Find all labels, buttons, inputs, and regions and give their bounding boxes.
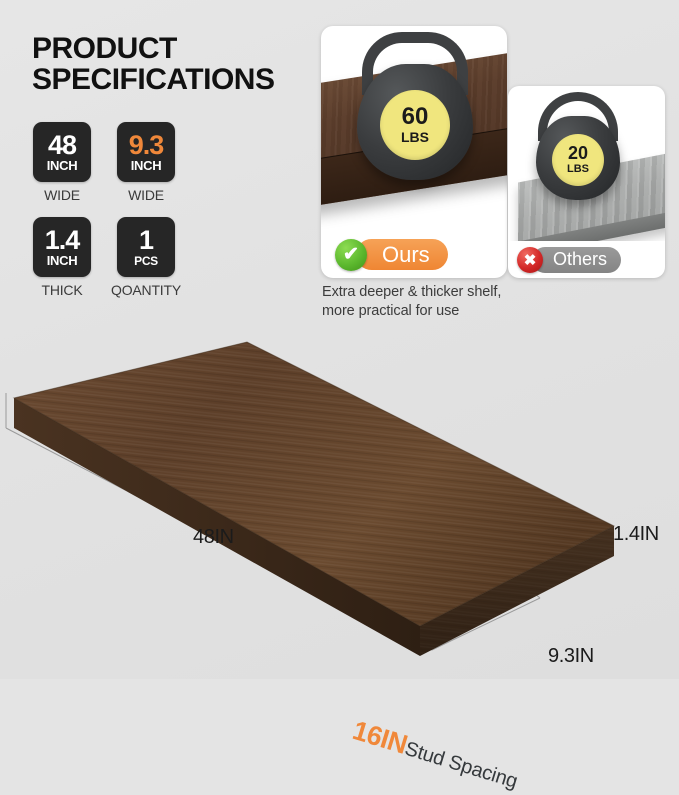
ours-pill-label: Ours — [356, 239, 448, 270]
spec-item-thickness: 1.4 INCH THICK — [31, 217, 93, 298]
page-title: PRODUCT SPECIFICATIONS — [32, 34, 274, 96]
kettlebell-20lbs: 20 LBS — [530, 92, 626, 208]
title-line-2: SPECIFICATIONS — [32, 65, 274, 96]
stud-spacing-annotation: 16INStud Spacing — [349, 715, 522, 795]
spec-caption: QOANTITY — [111, 282, 181, 298]
weight-value: 60 — [402, 106, 429, 129]
comparison-card-others: 20 LBS ✖ Others — [508, 86, 665, 278]
cross-icon: ✖ — [517, 247, 543, 273]
comparison-caption: Extra deeper & thicker shelf, more pract… — [322, 283, 602, 322]
spec-chip: 1.4 INCH — [33, 217, 91, 277]
spec-value: 9.3 — [129, 132, 164, 158]
spec-unit: INCH — [131, 159, 162, 172]
spec-chip: 9.3 INCH — [117, 122, 175, 182]
caption-line-1: Extra deeper & thicker shelf, — [322, 283, 602, 302]
spec-value: 1.4 — [45, 227, 80, 253]
spec-item-width: 48 INCH WIDE — [31, 122, 93, 203]
spec-row-2: 1.4 INCH THICK 1 PCS QOANTITY — [31, 217, 231, 298]
shelf-perspective-drawing — [0, 330, 679, 679]
spec-item-depth: 9.3 INCH WIDE — [115, 122, 177, 203]
dimension-label-depth: 9.3IN — [548, 645, 594, 668]
spec-item-quantity: 1 PCS QOANTITY — [115, 217, 177, 298]
spec-unit: PCS — [134, 255, 158, 267]
comparison-card-ours: 60 LBS ✔ Ours — [321, 26, 507, 278]
check-icon: ✔ — [335, 239, 367, 271]
spec-caption: WIDE — [128, 187, 164, 203]
spec-row-1: 48 INCH WIDE 9.3 INCH WIDE — [31, 122, 231, 203]
spec-badge-grid: 48 INCH WIDE 9.3 INCH WIDE 1.4 INCH THIC… — [31, 122, 231, 298]
spec-chip: 48 INCH — [33, 122, 91, 182]
stud-spacing-label: Stud Spacing — [402, 738, 520, 793]
caption-line-2: more practical for use — [322, 302, 602, 321]
dimension-label-length: 48IN — [193, 526, 234, 549]
product-specification-infographic: PRODUCT SPECIFICATIONS 48 INCH WIDE 9.3 … — [0, 0, 679, 679]
ours-label-bar: ✔ Ours — [321, 231, 507, 278]
weight-unit: LBS — [567, 164, 589, 175]
spec-value: 48 — [48, 132, 76, 158]
spec-unit: INCH — [47, 254, 78, 267]
spec-chip: 1 PCS — [117, 217, 175, 277]
stud-spacing-value: 16IN — [349, 715, 410, 760]
weight-unit: LBS — [401, 130, 429, 144]
others-photo: 20 LBS — [508, 86, 665, 241]
dimension-label-thickness: 1.4IN — [613, 523, 659, 546]
spec-caption: THICK — [41, 282, 82, 298]
others-pill-label: Others — [532, 247, 621, 273]
kettlebell-60lbs: 60 LBS — [351, 32, 479, 192]
weight-badge: 60 LBS — [380, 90, 450, 160]
spec-value: 1 — [139, 227, 153, 253]
wood-shelf-plank — [14, 342, 614, 656]
weight-badge: 20 LBS — [552, 134, 604, 186]
ours-photo: 60 LBS — [321, 26, 507, 231]
spec-caption: WIDE — [44, 187, 80, 203]
others-label-bar: ✖ Others — [508, 241, 665, 278]
spec-unit: INCH — [47, 159, 78, 172]
title-line-1: PRODUCT — [32, 32, 177, 65]
hero-product-illustration: 16INStud Spacing — [0, 330, 679, 679]
weight-value: 20 — [568, 145, 588, 162]
